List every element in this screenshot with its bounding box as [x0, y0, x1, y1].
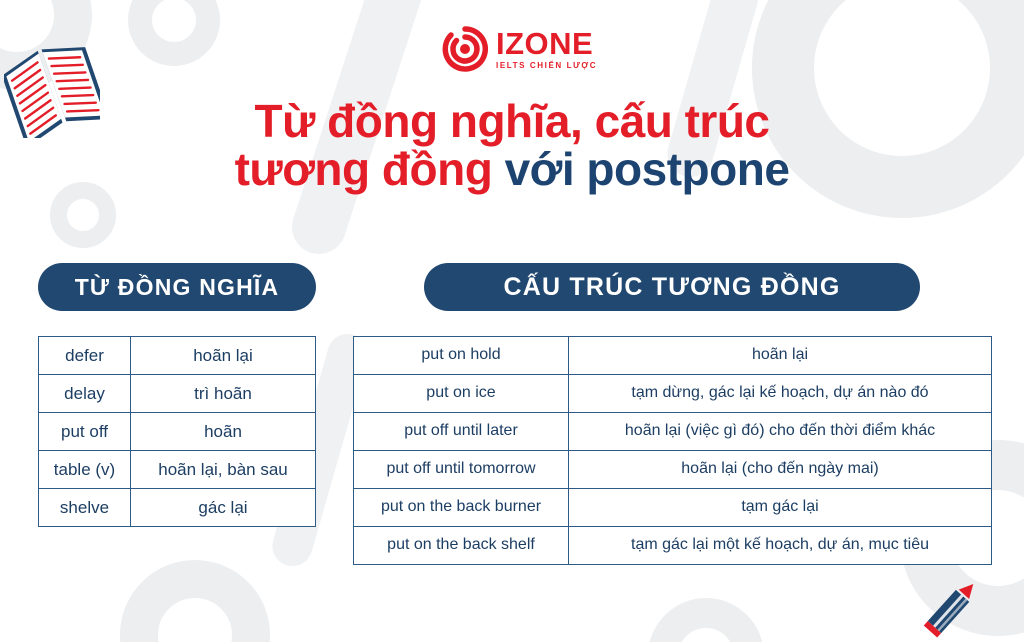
- synonyms-table: defer hoãn lại delay trì hoãn put off ho…: [38, 336, 316, 527]
- table-row: put off hoãn: [39, 413, 316, 451]
- brand-logo: IZONE IELTS CHIẾN LƯỢC: [442, 26, 597, 72]
- table-row: put on hold hoãn lại: [354, 337, 992, 375]
- table-row: delay trì hoãn: [39, 375, 316, 413]
- target-bullseye-icon: [442, 26, 488, 72]
- table-row: put on the back burner tạm gác lại: [354, 489, 992, 527]
- synonym-meaning: hoãn: [131, 413, 316, 451]
- title-line-2: tương đồng với postpone: [0, 146, 1024, 194]
- table-row: put on the back shelf tạm gác lại một kế…: [354, 527, 992, 565]
- structure-meaning: hoãn lại: [569, 337, 992, 375]
- synonym-meaning: hoãn lại: [131, 337, 316, 375]
- background-ring-decoration: [128, 0, 220, 66]
- synonym-meaning: trì hoãn: [131, 375, 316, 413]
- synonym-term: defer: [39, 337, 131, 375]
- structures-table: put on hold hoãn lại put on ice tạm dừng…: [353, 336, 992, 565]
- title-line-1: Từ đồng nghĩa, cấu trúc: [0, 98, 1024, 146]
- synonym-term: put off: [39, 413, 131, 451]
- structure-term: put on the back burner: [354, 489, 569, 527]
- synonym-term: shelve: [39, 489, 131, 527]
- background-ring-decoration: [120, 560, 270, 642]
- synonym-term: delay: [39, 375, 131, 413]
- structure-meaning: hoãn lại (cho đến ngày mai): [569, 451, 992, 489]
- structure-meaning: tạm gác lại một kế hoạch, dự án, mục tiê…: [569, 527, 992, 565]
- section-header-structures: CẤU TRÚC TƯƠNG ĐỒNG: [424, 263, 920, 311]
- structure-term: put on hold: [354, 337, 569, 375]
- title-line-2-red: tương đồng: [235, 143, 493, 195]
- section-header-synonyms: TỪ ĐỒNG NGHĨA: [38, 263, 316, 311]
- synonym-term: table (v): [39, 451, 131, 489]
- brand-name: IZONE: [496, 28, 593, 59]
- structure-meaning: tạm gác lại: [569, 489, 992, 527]
- table-row: table (v) hoãn lại, bàn sau: [39, 451, 316, 489]
- structure-meaning: hoãn lại (việc gì đó) cho đến thời điểm …: [569, 413, 992, 451]
- structure-term: put on the back shelf: [354, 527, 569, 565]
- table-row: put off until later hoãn lại (việc gì đó…: [354, 413, 992, 451]
- title-line-2-navy: với postpone: [505, 143, 790, 195]
- page-title: Từ đồng nghĩa, cấu trúc tương đồng với p…: [0, 98, 1024, 194]
- table-row: put on ice tạm dừng, gác lại kế hoạch, d…: [354, 375, 992, 413]
- pencil-icon: [914, 578, 1000, 642]
- table-row: shelve gác lại: [39, 489, 316, 527]
- table-row: defer hoãn lại: [39, 337, 316, 375]
- structure-term: put on ice: [354, 375, 569, 413]
- structure-meaning: tạm dừng, gác lại kế hoạch, dự án nào đó: [569, 375, 992, 413]
- brand-tagline: IELTS CHIẾN LƯỢC: [496, 62, 597, 70]
- structure-term: put off until later: [354, 413, 569, 451]
- background-ring-decoration: [648, 598, 764, 642]
- synonym-meaning: hoãn lại, bàn sau: [131, 451, 316, 489]
- table-row: put off until tomorrow hoãn lại (cho đến…: [354, 451, 992, 489]
- synonym-meaning: gác lại: [131, 489, 316, 527]
- structure-term: put off until tomorrow: [354, 451, 569, 489]
- infographic-canvas: IZONE IELTS CHIẾN LƯỢC Từ đồng nghĩa, cấ…: [0, 0, 1024, 642]
